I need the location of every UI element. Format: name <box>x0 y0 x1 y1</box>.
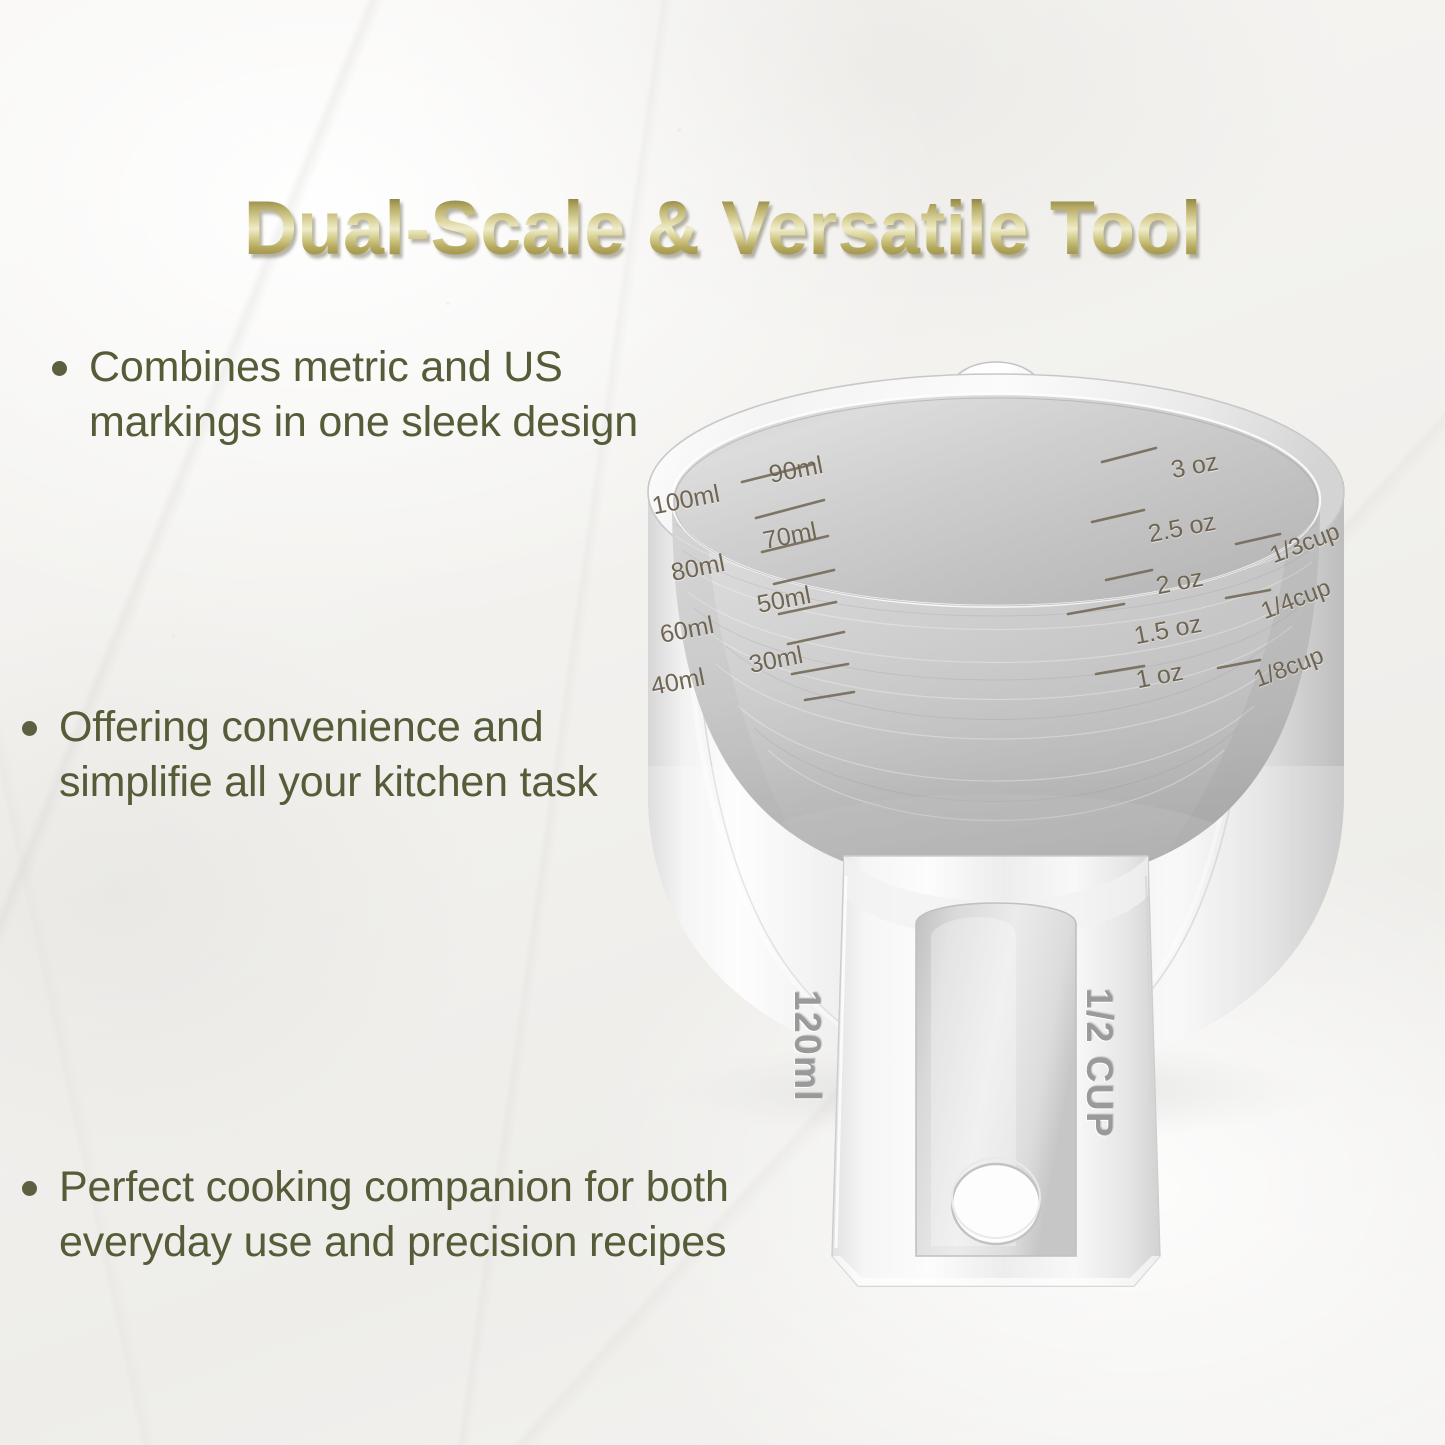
feature-bullet-2-text: Offering convenience and simplifie all y… <box>59 700 602 810</box>
handle-hanging-hole <box>952 1164 1040 1244</box>
page-title-container: Dual-Scale & Versatile Tool <box>0 140 1445 318</box>
feature-bullet-2: Offering convenience and simplifie all y… <box>22 700 602 810</box>
feature-bullet-3: Perfect cooking companion for both every… <box>22 1160 752 1270</box>
feature-bullet-1-text: Combines metric and US markings in one s… <box>89 340 652 450</box>
page-title: Dual-Scale & Versatile Tool <box>243 191 1201 267</box>
bullet-marker-icon <box>22 1181 37 1196</box>
feature-bullet-3-text: Perfect cooking companion for both every… <box>59 1160 752 1270</box>
measuring-cup-product-image: 100ml 90ml 80ml 70ml 60ml 50ml 40ml 30ml… <box>596 296 1396 1306</box>
bullet-marker-icon <box>22 721 37 736</box>
measuring-cup-illustration <box>596 296 1396 1306</box>
bullet-marker-icon <box>52 361 67 376</box>
feature-bullet-1: Combines metric and US markings in one s… <box>52 340 652 450</box>
